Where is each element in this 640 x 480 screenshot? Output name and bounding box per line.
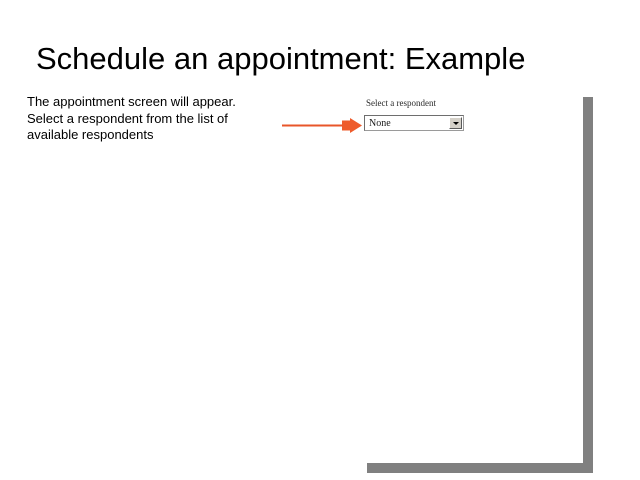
slide-shadow-right [583, 97, 593, 473]
slide-shadow-bottom [367, 463, 583, 473]
page-title: Schedule an appointment: Example [36, 40, 616, 78]
respondent-dropdown-group: Select a respondent None [364, 98, 474, 131]
chevron-down-icon[interactable] [449, 117, 462, 129]
right-arrow-icon [282, 117, 368, 135]
respondent-select[interactable]: None [364, 115, 464, 131]
respondent-dropdown-label: Select a respondent [366, 98, 474, 109]
slide-canvas: Schedule an appointment: Example The app… [0, 0, 640, 480]
respondent-select-value: None [369, 117, 391, 130]
body-text: The appointment screen will appear. Sele… [27, 94, 259, 144]
